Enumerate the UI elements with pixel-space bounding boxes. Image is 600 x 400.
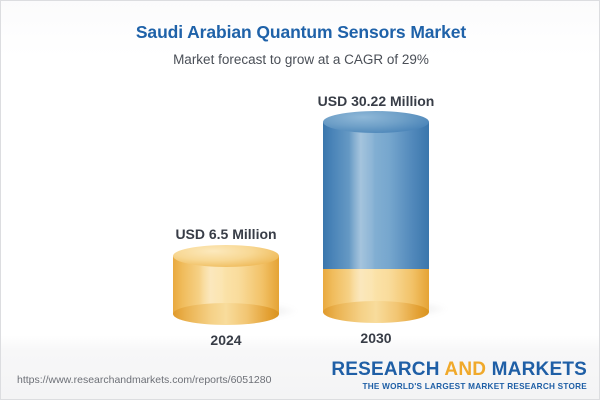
brand-logo: RESEARCH AND MARKETS THE WORLD'S LARGEST… <box>331 359 587 391</box>
value-label-2024: USD 6.5 Million <box>146 226 306 243</box>
cylinder-segment-2024-base <box>173 256 279 314</box>
cylinder-segment-2030-growth <box>323 122 429 269</box>
report-url[interactable]: https://www.researchandmarkets.com/repor… <box>17 374 271 386</box>
cylinder-segment-2030-base <box>323 269 429 312</box>
cylinder-top-cap-2024 <box>173 245 279 267</box>
cylinder-bottom-cap-2024 <box>173 303 279 325</box>
bar-group-2024: USD 6.5 Million 2024 <box>146 226 306 349</box>
cylinder-2024 <box>173 256 279 314</box>
brand-word-research: RESEARCH <box>331 359 439 380</box>
bar-group-2030: USD 30.22 Million 2030 <box>296 93 456 347</box>
cylinder-bottom-cap-2030 <box>323 301 429 323</box>
cylinder-top-cap-2030 <box>323 111 429 133</box>
axis-label-2024: 2024 <box>146 332 306 349</box>
brand-word-and: AND <box>444 359 486 380</box>
brand-word-markets: MARKETS <box>492 359 587 380</box>
chart-plot-area: USD 6.5 Million 2024 USD 30.22 Million <box>1 1 600 353</box>
axis-label-2030: 2030 <box>296 330 456 347</box>
brand-wordmark: RESEARCH AND MARKETS <box>331 359 587 381</box>
cylinder-2030 <box>323 122 429 312</box>
market-forecast-infographic: Saudi Arabian Quantum Sensors Market Mar… <box>0 0 600 400</box>
cylinder-body-2030-growth <box>323 122 429 269</box>
brand-tagline: THE WORLD'S LARGEST MARKET RESEARCH STOR… <box>331 382 587 391</box>
footer: https://www.researchandmarkets.com/repor… <box>1 351 600 399</box>
value-label-2030: USD 30.22 Million <box>296 93 456 110</box>
